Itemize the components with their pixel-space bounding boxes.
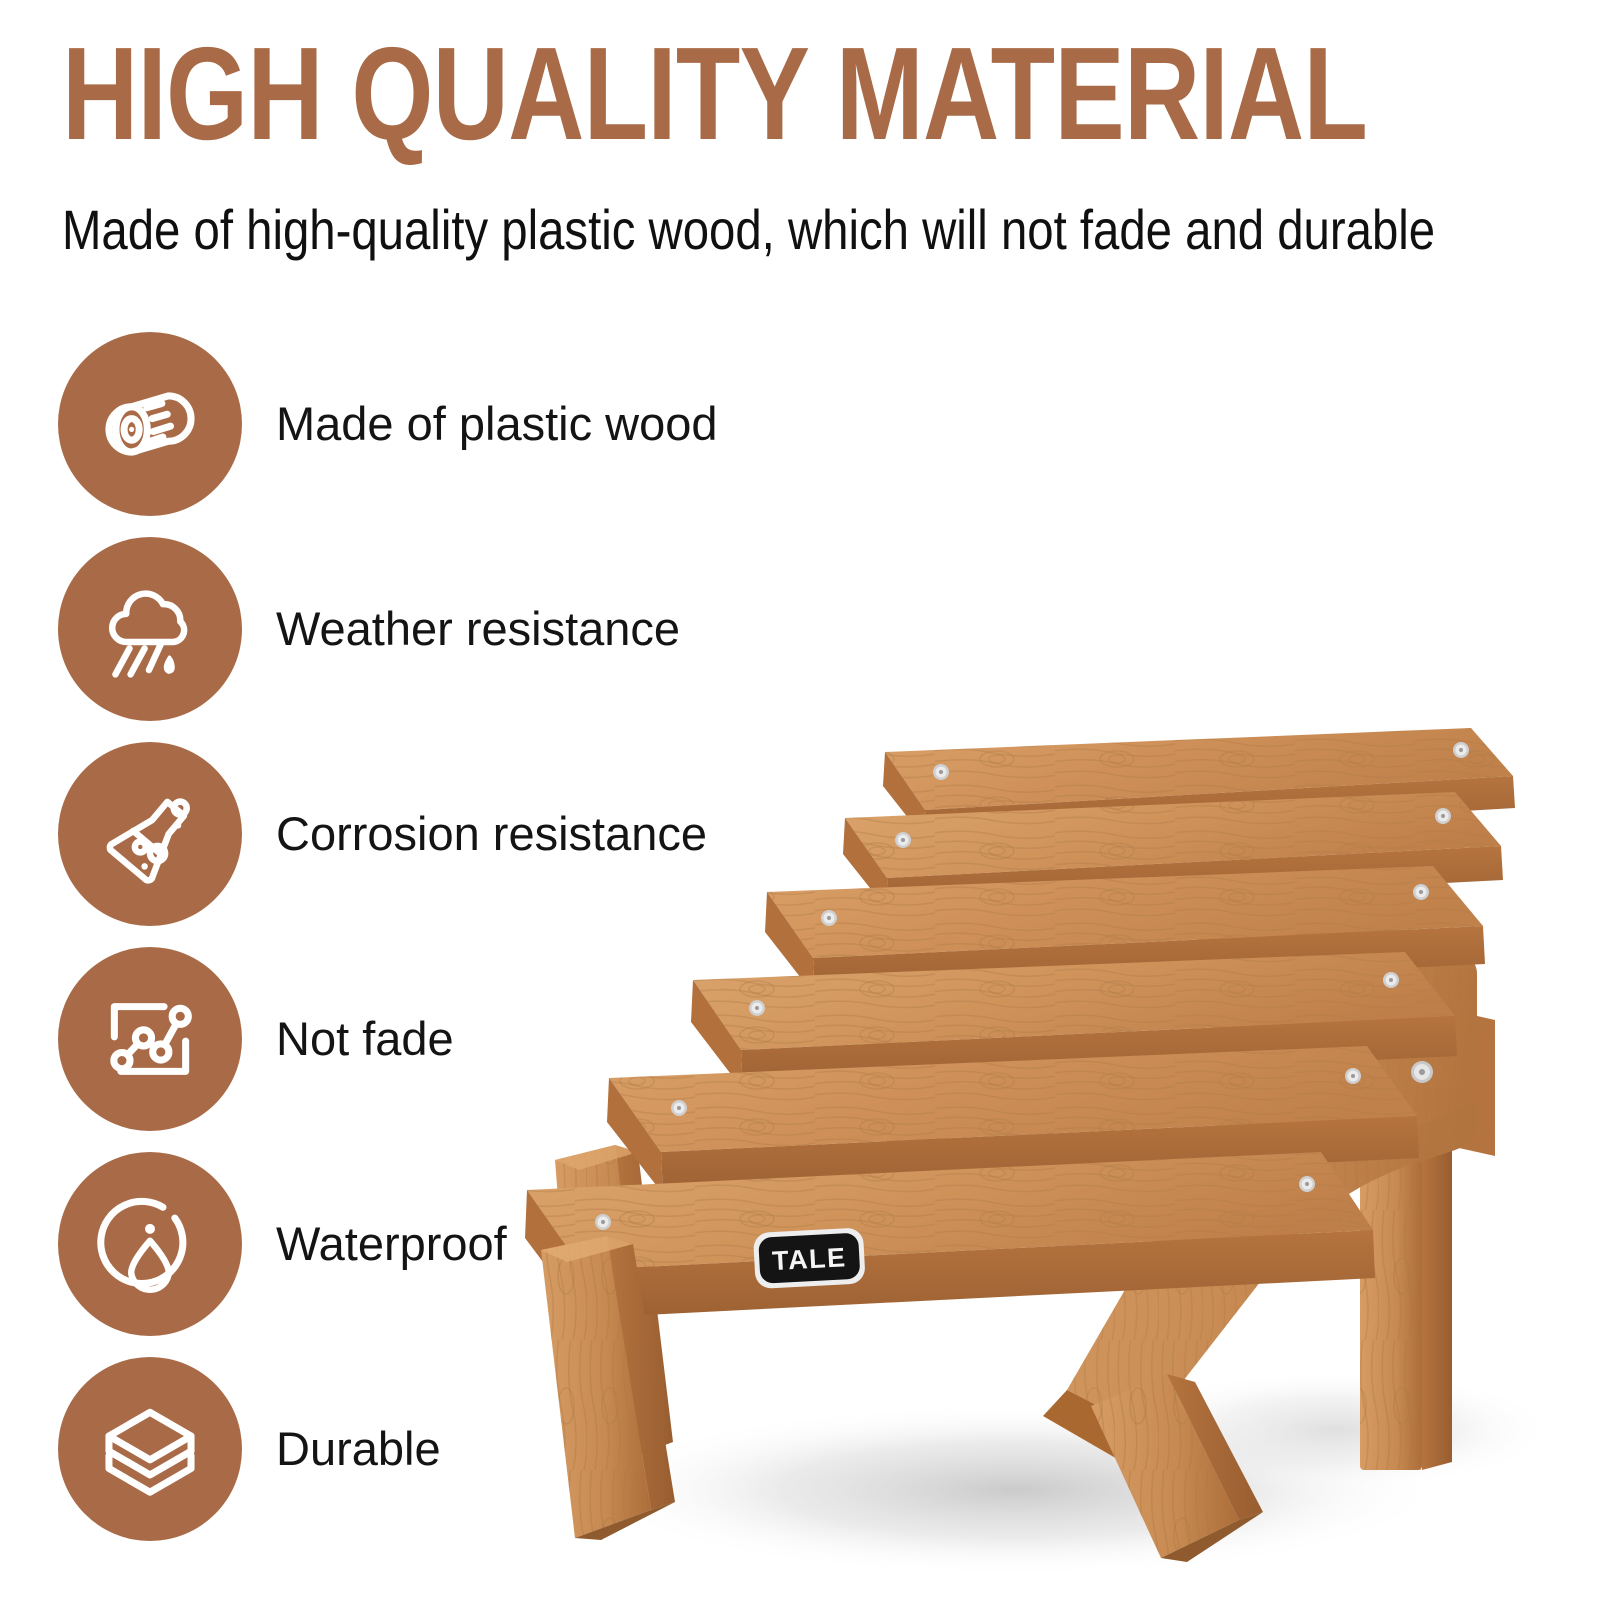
feature-badge (58, 1357, 242, 1541)
feature-badge (58, 332, 242, 516)
brand-badge-label: TALE (771, 1242, 847, 1276)
flask-icon (96, 780, 204, 888)
feature-badge (58, 947, 242, 1131)
feature-label: Made of plastic wood (276, 397, 718, 451)
ottoman-illustration: TALE (455, 690, 1601, 1580)
rain-cloud-icon (96, 575, 204, 683)
brand-badge: TALE (753, 1227, 866, 1289)
water-drop-icon (96, 1190, 204, 1298)
feature-badge (58, 1152, 242, 1336)
feature-badge (58, 742, 242, 926)
feature-badge (58, 537, 242, 721)
log-icon (96, 370, 204, 478)
infographic-page: HIGH QUALITY MATERIAL Made of high-quali… (0, 0, 1601, 1601)
product-image: TALE (455, 690, 1601, 1580)
feature-label: Weather resistance (276, 602, 680, 656)
layers-icon (96, 1395, 204, 1503)
page-title: HIGH QUALITY MATERIAL (62, 28, 1246, 160)
feature-label: Durable (276, 1422, 441, 1476)
feature-item-plastic-wood: Made of plastic wood (58, 332, 758, 516)
line-chart-icon (96, 985, 204, 1093)
page-subtitle: Made of high-quality plastic wood, which… (62, 198, 1380, 262)
feature-label: Not fade (276, 1012, 454, 1066)
